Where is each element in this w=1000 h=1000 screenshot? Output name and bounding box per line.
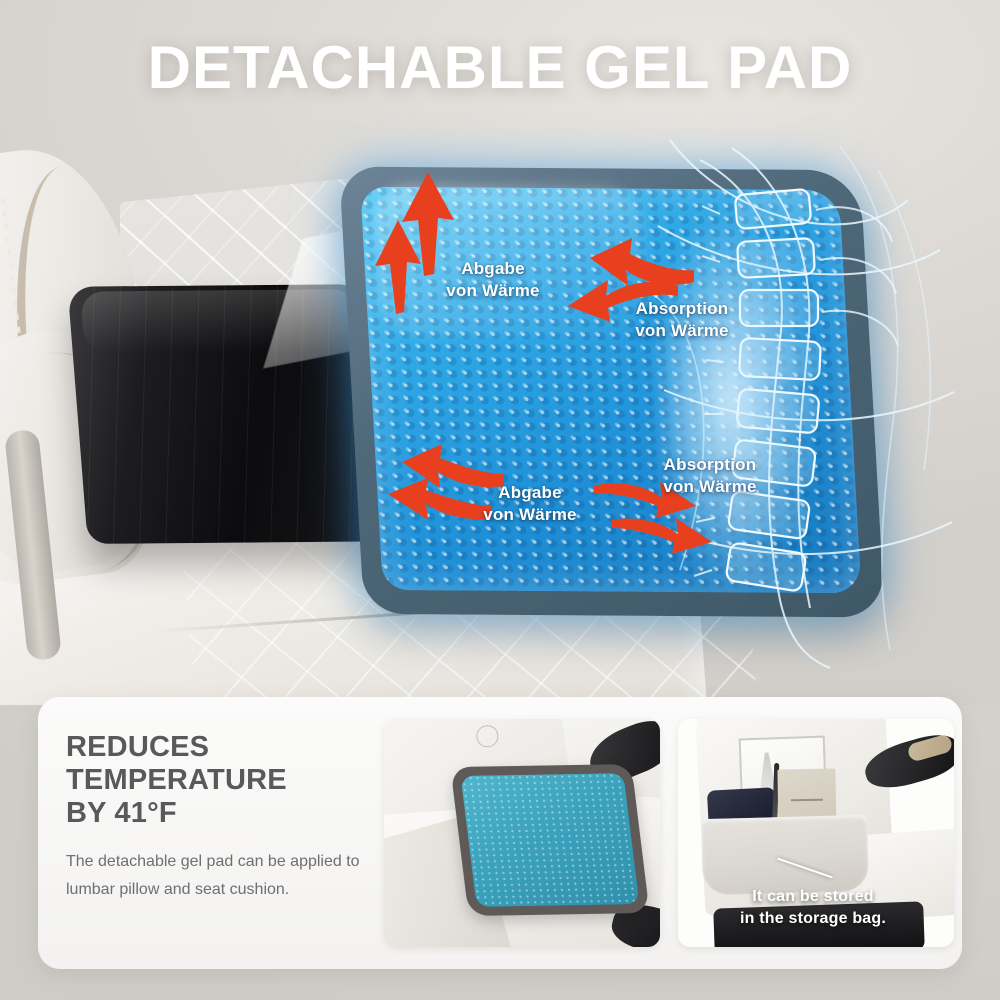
page-title: DETACHABLE GEL PAD: [0, 36, 1000, 99]
photo-gel-pad-on-seat: [384, 719, 660, 947]
feature-heading: REDUCES TEMPERATURE BY 41°F: [66, 731, 366, 830]
photo2-storage-pocket: [701, 815, 869, 895]
feature-description: The detachable gel pad can be applied to…: [66, 848, 366, 903]
heat-arrow-absorb-4: [610, 510, 714, 556]
feature-text-block: REDUCES TEMPERATURE BY 41°F The detachab…: [66, 719, 366, 903]
photo-storage-bag: It can be stored in the storage bag.: [678, 719, 954, 947]
logo-ring-icon: [475, 724, 500, 749]
hero-scene: Abgabe von Wärme Absorption von Wärme Ab…: [0, 0, 1000, 705]
product-infographic: Abgabe von Wärme Absorption von Wärme Ab…: [0, 0, 1000, 1000]
photo2-caption: It can be stored in the storage bag.: [678, 886, 948, 929]
photo1-gel-pad-surface: [461, 773, 640, 907]
photo1-gel-pad-frame: [450, 764, 649, 916]
heat-arrow-up-2: [372, 216, 424, 316]
label-heat-release-bottom: Abgabe von Wärme: [465, 482, 595, 526]
label-heat-absorption-bottom: Absorption von Wärme: [638, 454, 782, 498]
feature-card: REDUCES TEMPERATURE BY 41°F The detachab…: [38, 697, 962, 969]
label-heat-release-top: Abgabe von Wärme: [428, 258, 558, 302]
label-heat-absorption-top: Absorption von Wärme: [612, 298, 752, 342]
